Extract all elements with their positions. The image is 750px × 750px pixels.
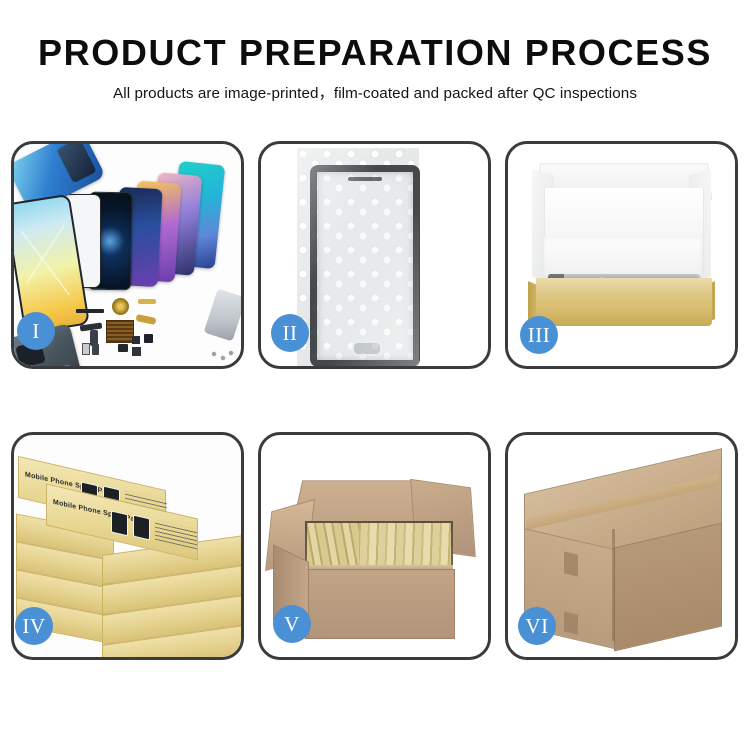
part-flex-cable-d	[138, 299, 156, 304]
part-chip-6	[132, 347, 141, 356]
step-badge-3-label: III	[528, 323, 550, 348]
phone-screen-under-wrap	[310, 165, 420, 366]
box-thumb-b1	[111, 510, 128, 536]
part-coil	[112, 298, 129, 315]
step-badge-1: I	[17, 312, 55, 350]
part-chip-3	[92, 344, 99, 355]
carton-vertical-edge	[612, 529, 615, 641]
step-panel-1: I	[11, 141, 244, 369]
box-label-text-second: Mobile Phone Spare Parts	[53, 499, 144, 525]
step-badge-4: IV	[15, 607, 53, 645]
part-chip-1	[132, 336, 140, 344]
step-badge-5-label: V	[284, 612, 300, 637]
page-header: PRODUCT PREPARATION PROCESS All products…	[0, 0, 750, 103]
part-chip-4	[82, 343, 90, 355]
part-bar	[76, 309, 104, 313]
boxes-inside-carton-left	[307, 523, 359, 571]
page-title: PRODUCT PREPARATION PROCESS	[0, 34, 750, 72]
step-badge-4-label: IV	[22, 614, 45, 639]
step-badge-3: III	[520, 316, 558, 354]
step-badge-2-label: II	[283, 321, 298, 346]
carton-seam-bottom	[564, 611, 578, 634]
step-panel-4: Mobile Phone Spare Parts Mobile Phone Sp…	[11, 432, 244, 660]
step-panel-2: II	[258, 141, 491, 369]
step-badge-6: VI	[518, 607, 556, 645]
process-steps-grid: I II	[11, 141, 739, 660]
box-foam-pad	[544, 236, 702, 278]
carton-seam-top	[564, 551, 578, 576]
step-badge-5: V	[273, 605, 311, 643]
part-chip-2	[144, 334, 153, 343]
part-connector-grid	[106, 320, 134, 343]
part-screws	[210, 350, 236, 362]
box-thumb-b2	[133, 515, 150, 541]
step-badge-6-label: VI	[525, 614, 548, 639]
box-spec-lines-b	[155, 520, 197, 550]
part-chip-5	[118, 344, 128, 352]
box-front-face	[536, 294, 712, 326]
page-subtitle: All products are image-printed，film-coat…	[0, 81, 750, 103]
step-panel-5: V	[258, 432, 491, 660]
step-badge-2: II	[271, 314, 309, 352]
home-button	[352, 341, 382, 356]
bubble-wrap-photo	[297, 148, 419, 366]
step-panel-6: VI	[505, 432, 738, 660]
step-panel-3: III	[505, 141, 738, 369]
earpiece-slot	[348, 177, 382, 181]
step-badge-1-label: I	[32, 319, 40, 344]
carton-front-face	[305, 569, 455, 639]
